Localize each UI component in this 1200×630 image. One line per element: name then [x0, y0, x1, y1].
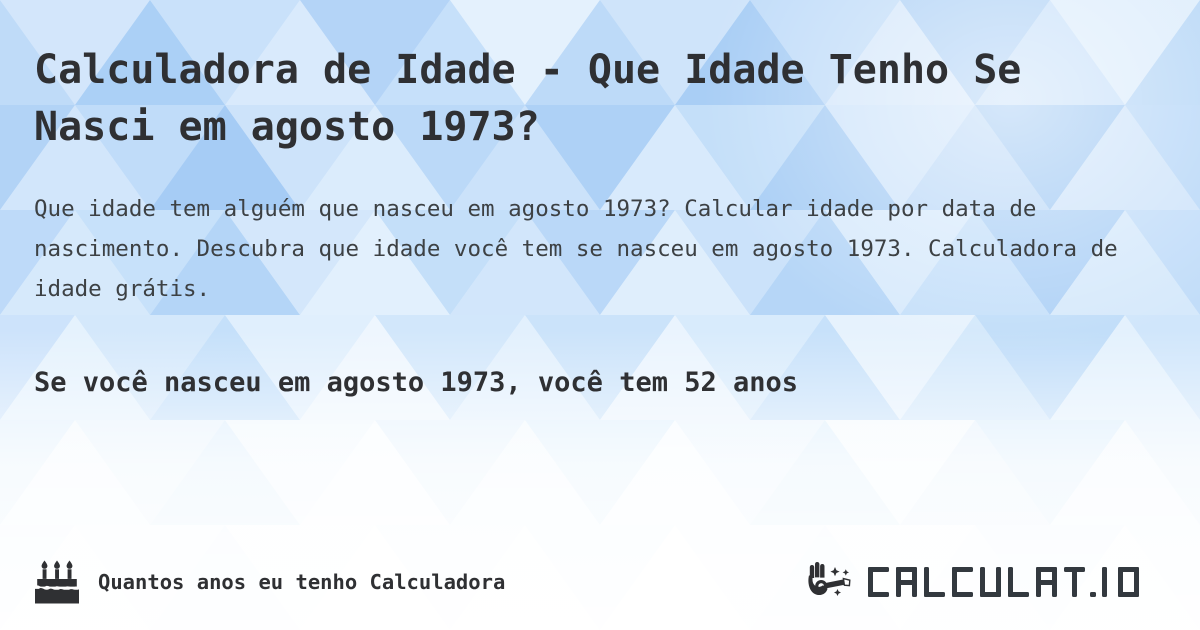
page-description: Que idade tem alguém que nasceu em agost… — [34, 156, 1149, 309]
birthday-cake-icon — [34, 560, 80, 604]
footer-site-label: Quantos anos eu tenho Calculadora — [98, 570, 505, 594]
age-result-text: Se você nasceu em agosto 1973, você tem … — [34, 309, 1166, 401]
brand-logo-link[interactable]: CALCULAT.IO — [806, 561, 1166, 603]
magic-wand-hand-icon — [806, 561, 858, 603]
brand-wordmark: CALCULAT.IO — [866, 561, 1166, 603]
footer: Quantos anos eu tenho Calculadora — [34, 554, 1166, 610]
page-title: Calculadora de Idade - Que Idade Tenho S… — [34, 0, 1044, 156]
card-content: Calculadora de Idade - Que Idade Tenho S… — [0, 0, 1200, 630]
footer-brand-left: Quantos anos eu tenho Calculadora — [34, 560, 505, 604]
og-card: Calculadora de Idade - Que Idade Tenho S… — [0, 0, 1200, 630]
